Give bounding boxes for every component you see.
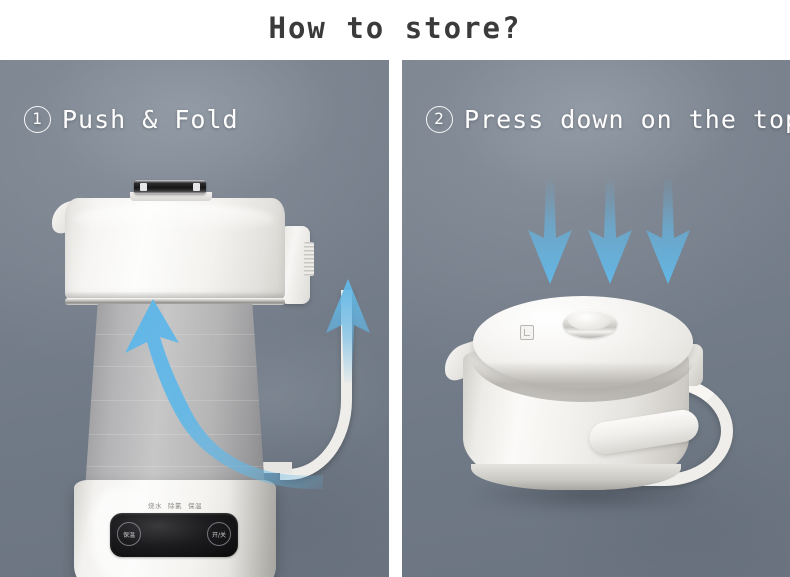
step-number-badge-2: 2: [426, 106, 453, 133]
control-label-keepwarm: 保温: [188, 500, 202, 510]
kettle-body-gloss: [74, 204, 274, 234]
steps-container: 1 Push & Fold: [0, 60, 790, 577]
step-number-badge-1: 1: [24, 106, 51, 133]
page-title: How to store?: [0, 0, 790, 60]
control-panel-labels: 烧水 除氯 保温: [104, 500, 246, 510]
step-caption-text-2: Press down on the top: [464, 105, 790, 134]
step-caption-text-1: Push & Fold: [62, 105, 239, 134]
kettle-handle-ridges: [304, 242, 314, 276]
power-onoff-button[interactable]: 开/关: [207, 522, 231, 546]
kettle-lid-handle-bar: [134, 180, 206, 194]
kettle-control-screen[interactable]: 保温 开/关: [110, 513, 238, 557]
press-down-arrow-3: [642, 178, 694, 288]
step-panel-press-down: 2 Press down on the top: [402, 60, 790, 577]
kettle-base-unit: 烧水 除氯 保温 保温 开/关: [74, 480, 276, 577]
control-label-dechlor: 除氯: [168, 500, 182, 510]
step-caption-2: 2 Press down on the top: [426, 105, 790, 134]
kettle-expanded-illustration: 烧水 除氯 保温 保温 开/关: [52, 180, 352, 577]
pot-lid-knob-inner: [568, 311, 611, 330]
step-panel-push-and-fold: 1 Push & Fold: [0, 60, 389, 577]
kettle-collapsed-illustration: [437, 288, 757, 538]
keep-warm-button[interactable]: 保温: [117, 522, 141, 546]
brand-logo-icon: [520, 325, 534, 340]
kettle-silicone-bellows: [85, 304, 265, 490]
press-down-arrow-2: [584, 178, 636, 288]
kettle-chrome-ring: [65, 298, 285, 305]
kettle-handle-arm: [280, 290, 352, 480]
control-label-boil: 烧水: [148, 500, 162, 510]
step-caption-1: 1 Push & Fold: [24, 105, 239, 134]
press-down-arrow-1: [524, 178, 576, 288]
